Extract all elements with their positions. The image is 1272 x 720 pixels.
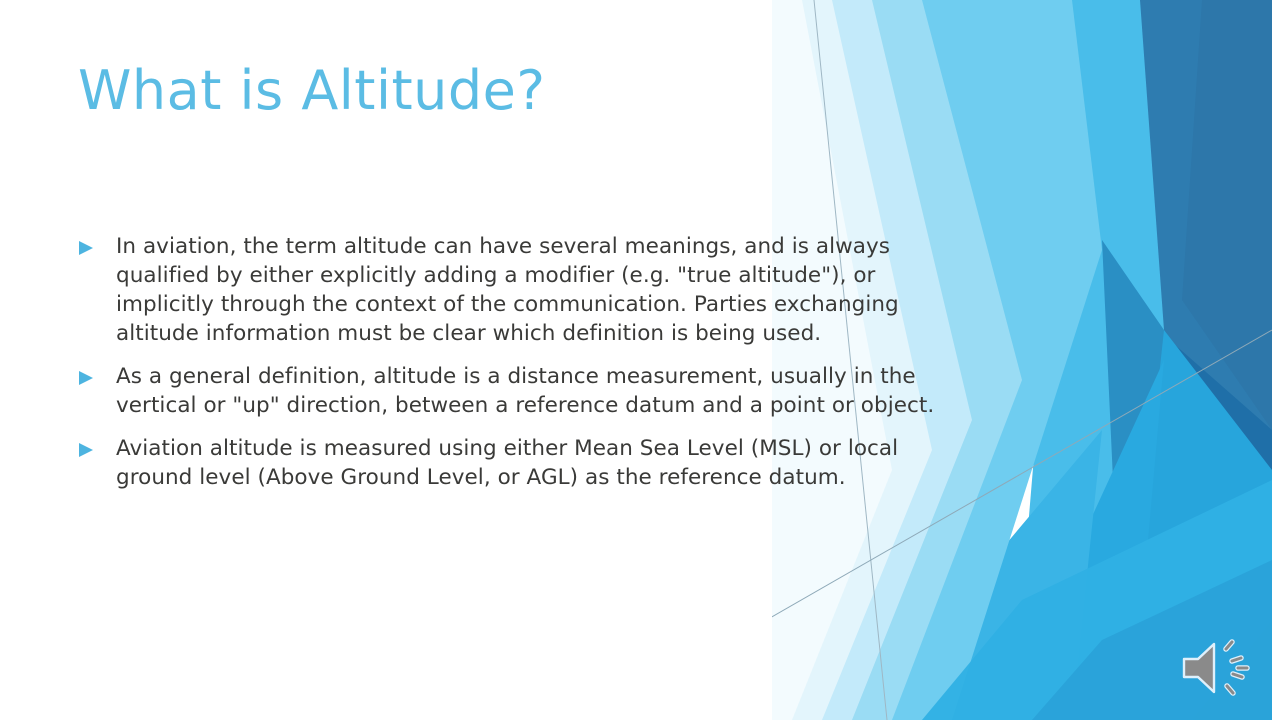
speaker-icon[interactable] — [1180, 636, 1254, 700]
deco-shape-dark-top — [1182, 0, 1272, 430]
deco-shape-dark-right — [1122, 0, 1272, 720]
triangle-right-icon — [78, 232, 116, 255]
triangle-right-icon — [78, 434, 116, 457]
list-item: Aviation altitude is measured using eith… — [78, 434, 958, 492]
list-item-text: As a general definition, altitude is a d… — [116, 362, 956, 420]
list-item-text: In aviation, the term altitude can have … — [116, 232, 916, 348]
bullet-list: In aviation, the term altitude can have … — [78, 232, 958, 492]
page-title: What is Altitude? — [78, 60, 546, 122]
slide-canvas: What is Altitude? In aviation, the term … — [0, 0, 1272, 720]
deco-shape-mid-blue — [1012, 0, 1164, 720]
list-item-text: Aviation altitude is measured using eith… — [116, 434, 906, 492]
triangle-right-icon — [78, 362, 116, 385]
list-item: As a general definition, altitude is a d… — [78, 362, 958, 420]
list-item: In aviation, the term altitude can have … — [78, 232, 958, 348]
